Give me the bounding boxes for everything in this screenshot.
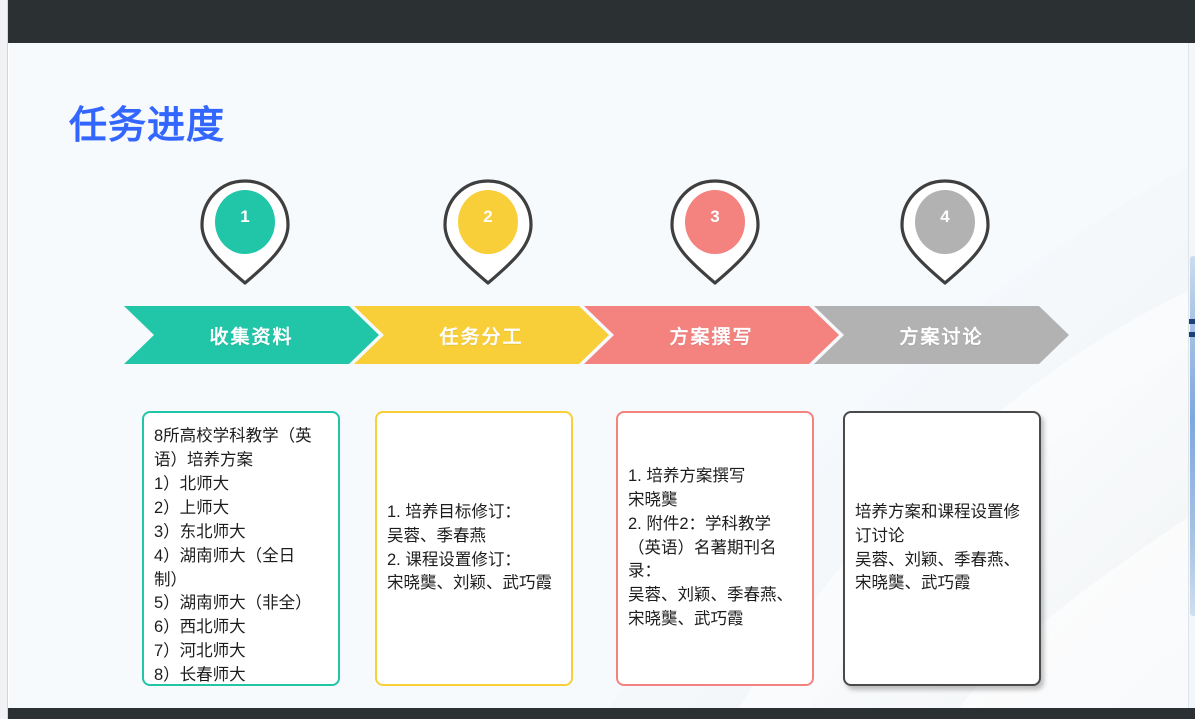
step-chevron-4[interactable]: 方案讨论	[814, 306, 1069, 364]
step-chevron-label-3: 方案撰写	[669, 322, 753, 349]
step-detail-text-3: 1. 培养方案撰写 宋晓龑 2. 附件2：学科教学（英语）名著期刊名录： 吴蓉、…	[618, 465, 812, 632]
slide-canvas: 任务进度 1 2 3	[9, 43, 1195, 708]
step-chevron-2[interactable]: 任务分工	[354, 306, 609, 364]
step-chevron-3[interactable]: 方案撰写	[584, 306, 839, 364]
window-bottom-bar	[8, 708, 1195, 719]
step-pin-1[interactable]: 1	[197, 177, 293, 287]
app-viewport: 任务进度 1 2 3	[0, 0, 1195, 719]
step-detail-text-4: 培养方案和课程设置修订讨论 吴蓉、刘颖、季春燕、宋晓龑、武巧霞	[845, 501, 1039, 597]
step-chevron-label-1: 收集资料	[209, 322, 293, 349]
window-top-bar	[8, 0, 1195, 43]
window-left-edge	[0, 0, 8, 719]
step-detail-card-3: 1. 培养方案撰写 宋晓龑 2. 附件2：学科教学（英语）名著期刊名录： 吴蓉、…	[616, 411, 814, 686]
page-title: 任务进度	[69, 94, 225, 149]
vertical-scrollbar[interactable]	[1188, 43, 1195, 708]
step-chevron-label-2: 任务分工	[439, 322, 523, 349]
step-chevron-label-4: 方案讨论	[899, 322, 983, 349]
step-detail-text-2: 1. 培养目标修订： 吴蓉、季春燕 2. 课程设置修订： 宋晓龑、刘颖、武巧霞	[377, 501, 571, 597]
pin-shape-icon	[440, 177, 536, 287]
pin-shape-icon	[197, 177, 293, 287]
step-pin-4[interactable]: 4	[897, 177, 993, 287]
step-detail-card-4: 培养方案和课程设置修订讨论 吴蓉、刘颖、季春燕、宋晓龑、武巧霞	[843, 411, 1041, 686]
pin-shape-icon	[897, 177, 993, 287]
scrollbar-marker	[1189, 319, 1195, 324]
step-chevron-1[interactable]: 收集资料	[124, 306, 379, 364]
step-pin-3[interactable]: 3	[667, 177, 763, 287]
scrollbar-marker	[1189, 332, 1195, 337]
step-detail-card-1: 8所高校学科教学（英语）培养方案 1）北师大 2）上师大 3）东北师大 4）湖南…	[142, 411, 340, 686]
step-detail-text-1: 8所高校学科教学（英语）培养方案 1）北师大 2）上师大 3）东北师大 4）湖南…	[144, 413, 338, 686]
scrollbar-thumb[interactable]	[1190, 256, 1195, 616]
step-detail-card-2: 1. 培养目标修订： 吴蓉、季春燕 2. 课程设置修订： 宋晓龑、刘颖、武巧霞	[375, 411, 573, 686]
step-pin-2[interactable]: 2	[440, 177, 536, 287]
pin-shape-icon	[667, 177, 763, 287]
